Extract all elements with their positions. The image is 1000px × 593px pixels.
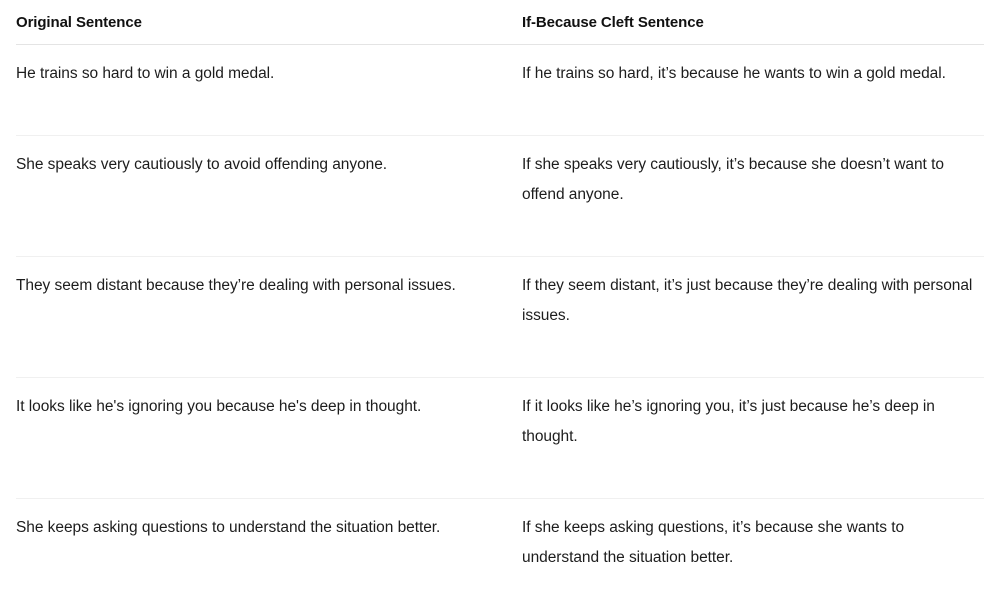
table-row: She speaks very cautiously to avoid offe… — [16, 136, 984, 257]
column-header-original-sentence: Original Sentence — [16, 0, 506, 45]
cell-cleft-sentence: If she speaks very cautiously, it’s beca… — [506, 136, 984, 257]
cell-cleft-sentence: If she keeps asking questions, it’s beca… — [506, 499, 984, 593]
cell-cleft-sentence: If it looks like he’s ignoring you, it’s… — [506, 378, 984, 499]
column-header-if-because-cleft-sentence: If-Because Cleft Sentence — [506, 0, 984, 45]
cell-original-sentence: She speaks very cautiously to avoid offe… — [16, 136, 506, 257]
cell-cleft-sentence: If he trains so hard, it’s because he wa… — [506, 45, 984, 136]
table-row: It looks like he's ignoring you because … — [16, 378, 984, 499]
table-body: He trains so hard to win a gold medal. I… — [16, 45, 984, 593]
table-row: He trains so hard to win a gold medal. I… — [16, 45, 984, 136]
cell-original-sentence: It looks like he's ignoring you because … — [16, 378, 506, 499]
table-row: They seem distant because they’re dealin… — [16, 257, 984, 378]
cell-original-sentence: They seem distant because they’re dealin… — [16, 257, 506, 378]
cell-original-sentence: She keeps asking questions to understand… — [16, 499, 506, 593]
table-row: She keeps asking questions to understand… — [16, 499, 984, 593]
table-header-row: Original Sentence If-Because Cleft Sente… — [16, 0, 984, 45]
cleft-sentences-table: Original Sentence If-Because Cleft Sente… — [16, 0, 984, 593]
cell-original-sentence: He trains so hard to win a gold medal. — [16, 45, 506, 136]
table-header: Original Sentence If-Because Cleft Sente… — [16, 0, 984, 45]
document-sheet: Original Sentence If-Because Cleft Sente… — [0, 0, 1000, 505]
cell-cleft-sentence: If they seem distant, it’s just because … — [506, 257, 984, 378]
